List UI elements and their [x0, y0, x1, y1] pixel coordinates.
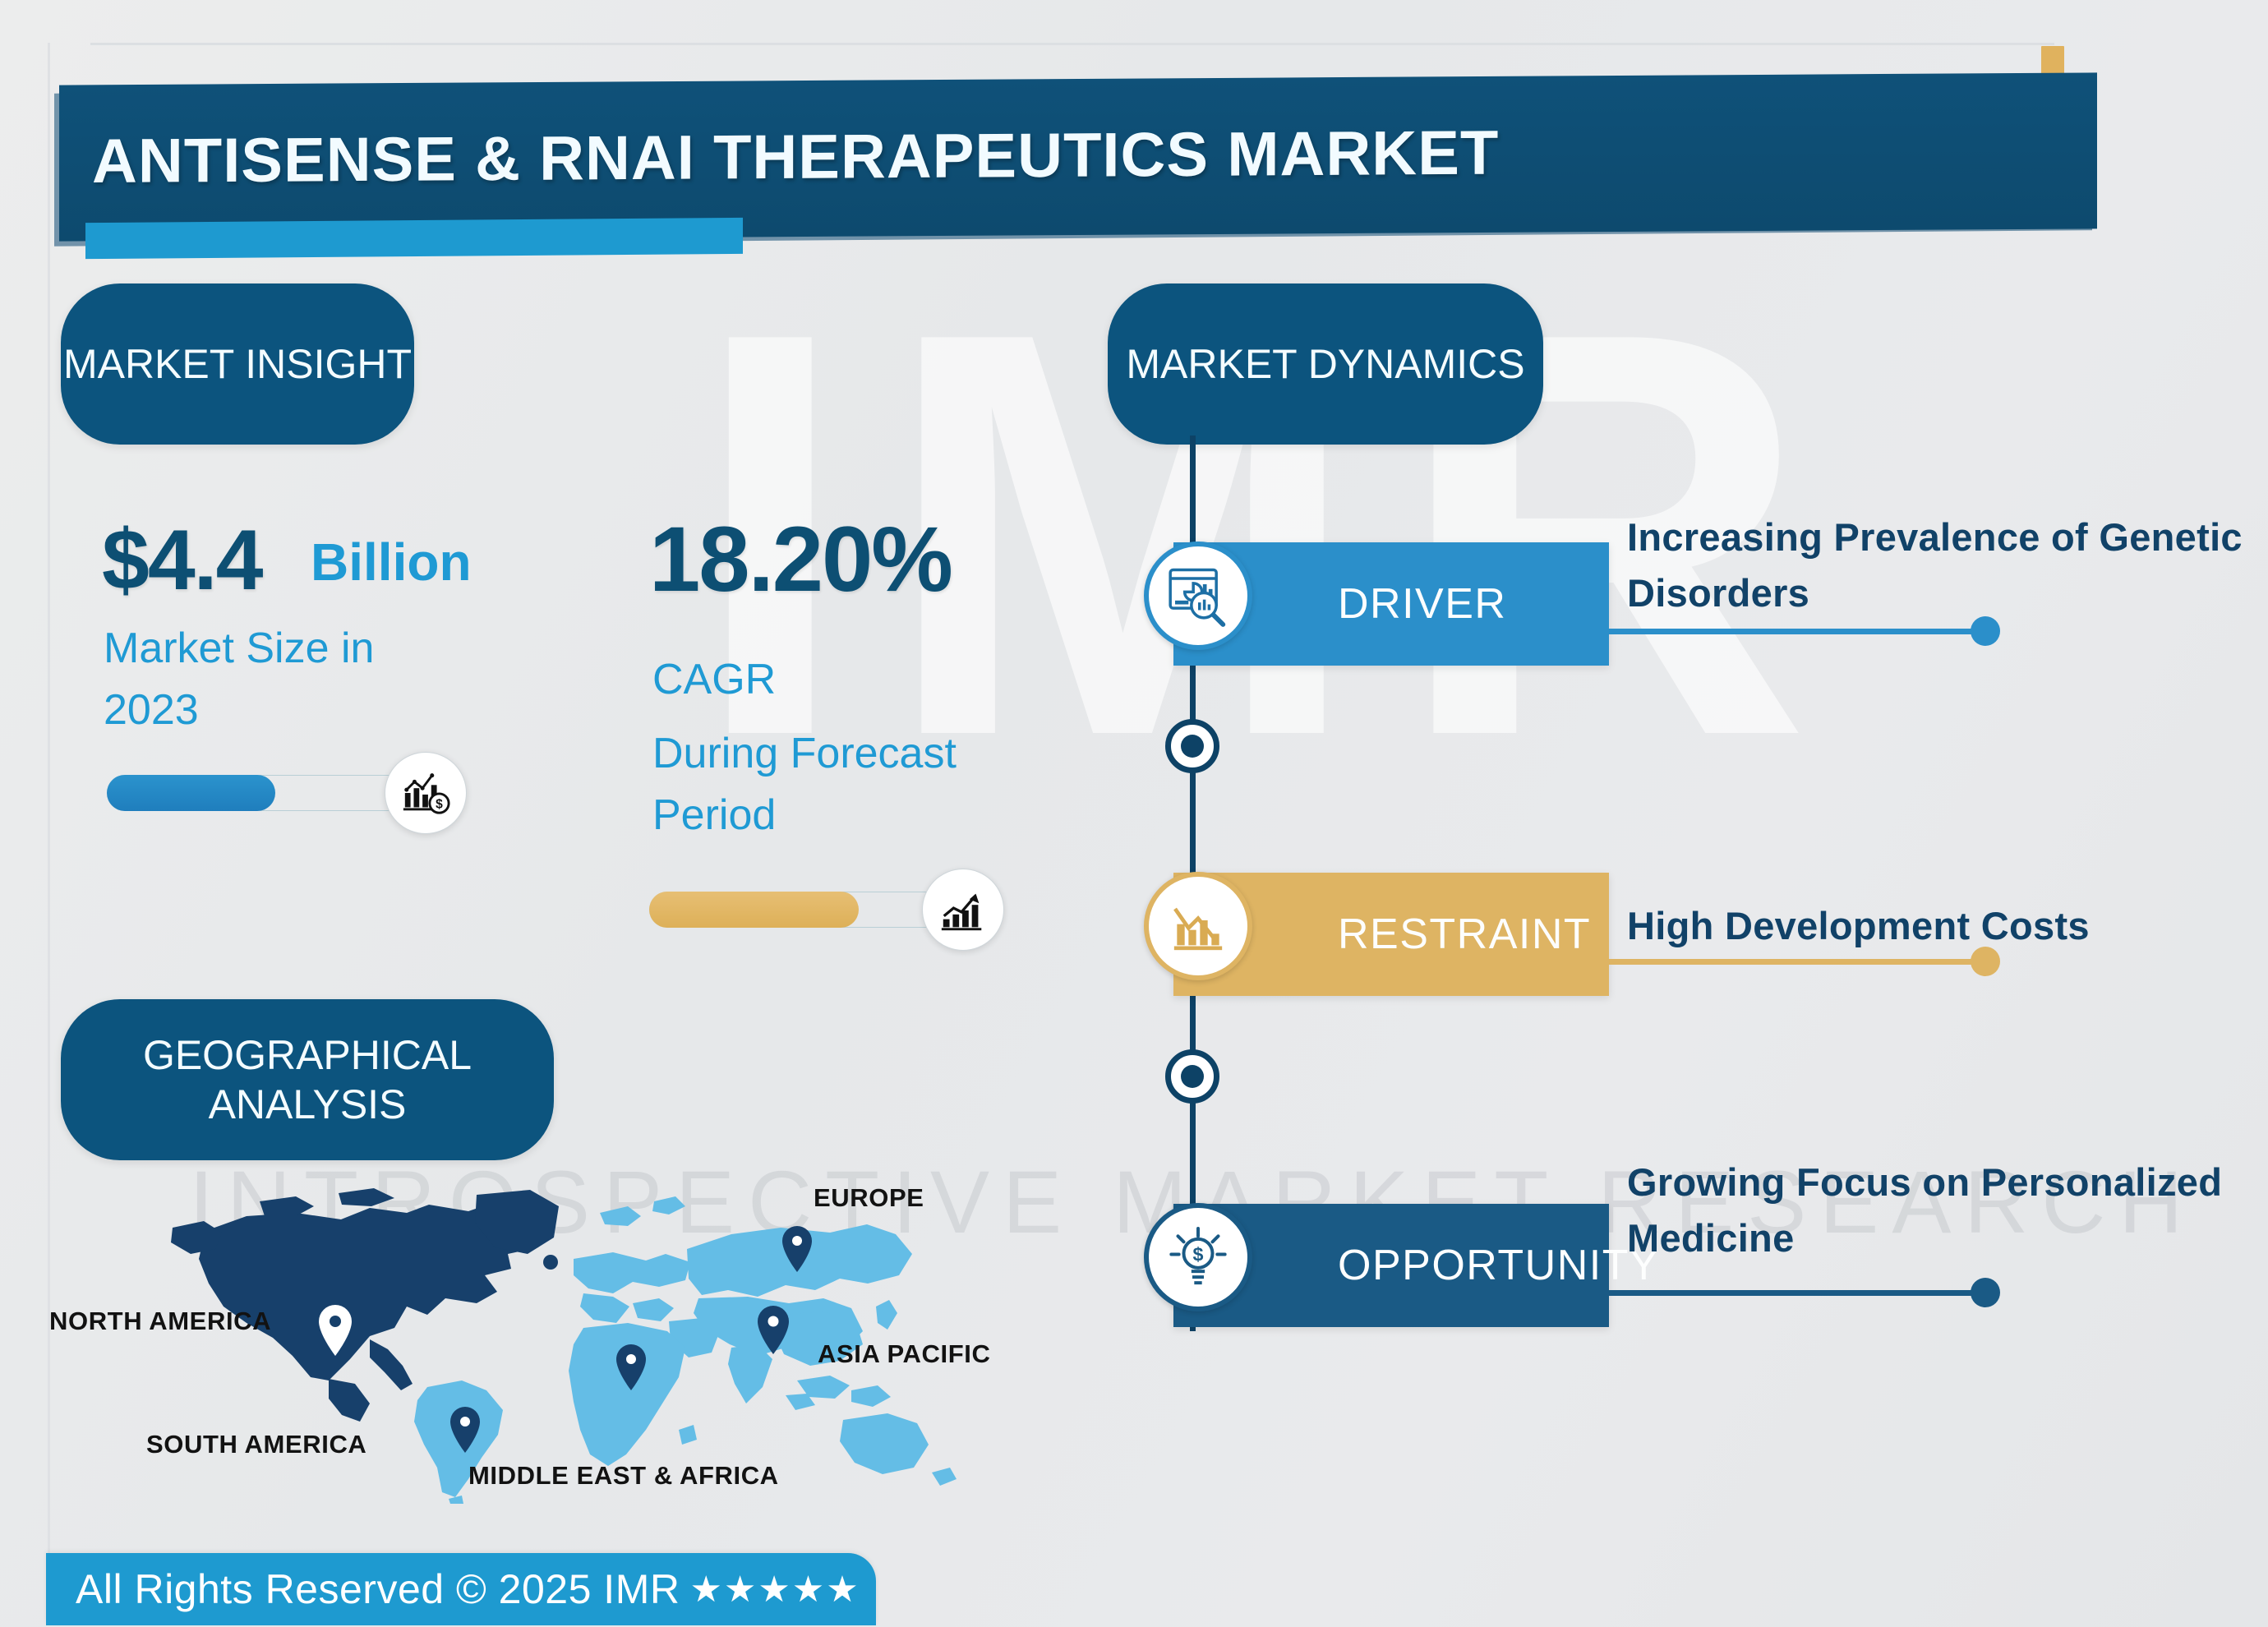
cagr-progress-fill — [649, 892, 859, 928]
svg-text:$: $ — [1193, 1244, 1204, 1265]
dynamics-description-opportunity: Growing Focus on Personalized Medicine — [1627, 1155, 2268, 1266]
dynamics-endpoint-driver — [1971, 616, 2000, 646]
gold-corner-tab — [2041, 46, 2064, 76]
growth-chart-arrow-icon — [922, 869, 1004, 951]
dynamics-connector-restraint — [1609, 959, 1987, 965]
header-accent-bar — [85, 218, 743, 259]
bar-chart-dollar-icon: $ — [385, 752, 467, 834]
map-label-middle-east-africa: MIDDLE EAST & AFRICA — [468, 1461, 779, 1491]
lightbulb-dollar-icon: $ — [1144, 1203, 1252, 1311]
map-label-europe: EUROPE — [814, 1183, 924, 1213]
dynamics-description-restraint: High Development Costs — [1627, 898, 2268, 954]
timeline-node-dot — [1165, 1049, 1219, 1104]
svg-text:$: $ — [436, 797, 443, 811]
dynamics-endpoint-opportunity — [1971, 1278, 2000, 1307]
map-label-north-america: NORTH AMERICA — [49, 1307, 271, 1336]
section-title-geographical-analysis: GEOGRAPHICAL ANALYSIS — [61, 999, 554, 1160]
dynamics-endpoint-restraint — [1971, 947, 2000, 976]
market-size-unit: Billion — [311, 536, 472, 588]
infographic-canvas: IMR INTROSPECTIVE MARKET RESEARCH ANTISE… — [0, 0, 2268, 1627]
declining-bar-chart-icon — [1144, 872, 1252, 980]
map-label-asia-pacific: ASIA PACIFIC — [818, 1339, 990, 1369]
market-size-progress-fill — [107, 775, 275, 811]
dynamics-description-driver: Increasing Prevalence of Genetic Disorde… — [1627, 509, 2268, 621]
section-title-market-insight: MARKET INSIGHT — [61, 283, 414, 445]
market-size-value: $4.4 — [102, 518, 261, 603]
market-size-label: Market Size in 2023 — [104, 618, 465, 742]
dashboard-magnifier-icon — [1144, 542, 1252, 650]
top-divider-rule — [90, 43, 2054, 45]
cagr-label: CAGR — [652, 649, 1039, 711]
dynamics-connector-driver — [1609, 629, 1987, 634]
left-divider-rule — [48, 43, 50, 1588]
timeline-node-dot — [1165, 719, 1219, 773]
page-title: ANTISENSE & RNAI THERAPEUTICS MARKET — [92, 101, 1982, 211]
section-title-market-dynamics: MARKET DYNAMICS — [1108, 283, 1543, 445]
footer-star-rating: ★★★★★ — [689, 1569, 860, 1611]
footer-bar: All Rights Reserved © 2025 IMR ★★★★★ — [46, 1553, 876, 1625]
footer-copyright: All Rights Reserved © 2025 IMR — [76, 1565, 680, 1613]
cagr-value: 18.20% — [649, 514, 952, 606]
cagr-sublabel: During Forecast Period — [652, 723, 1047, 847]
map-label-south-america: SOUTH AMERICA — [146, 1430, 366, 1459]
dynamics-connector-opportunity — [1609, 1290, 1987, 1296]
